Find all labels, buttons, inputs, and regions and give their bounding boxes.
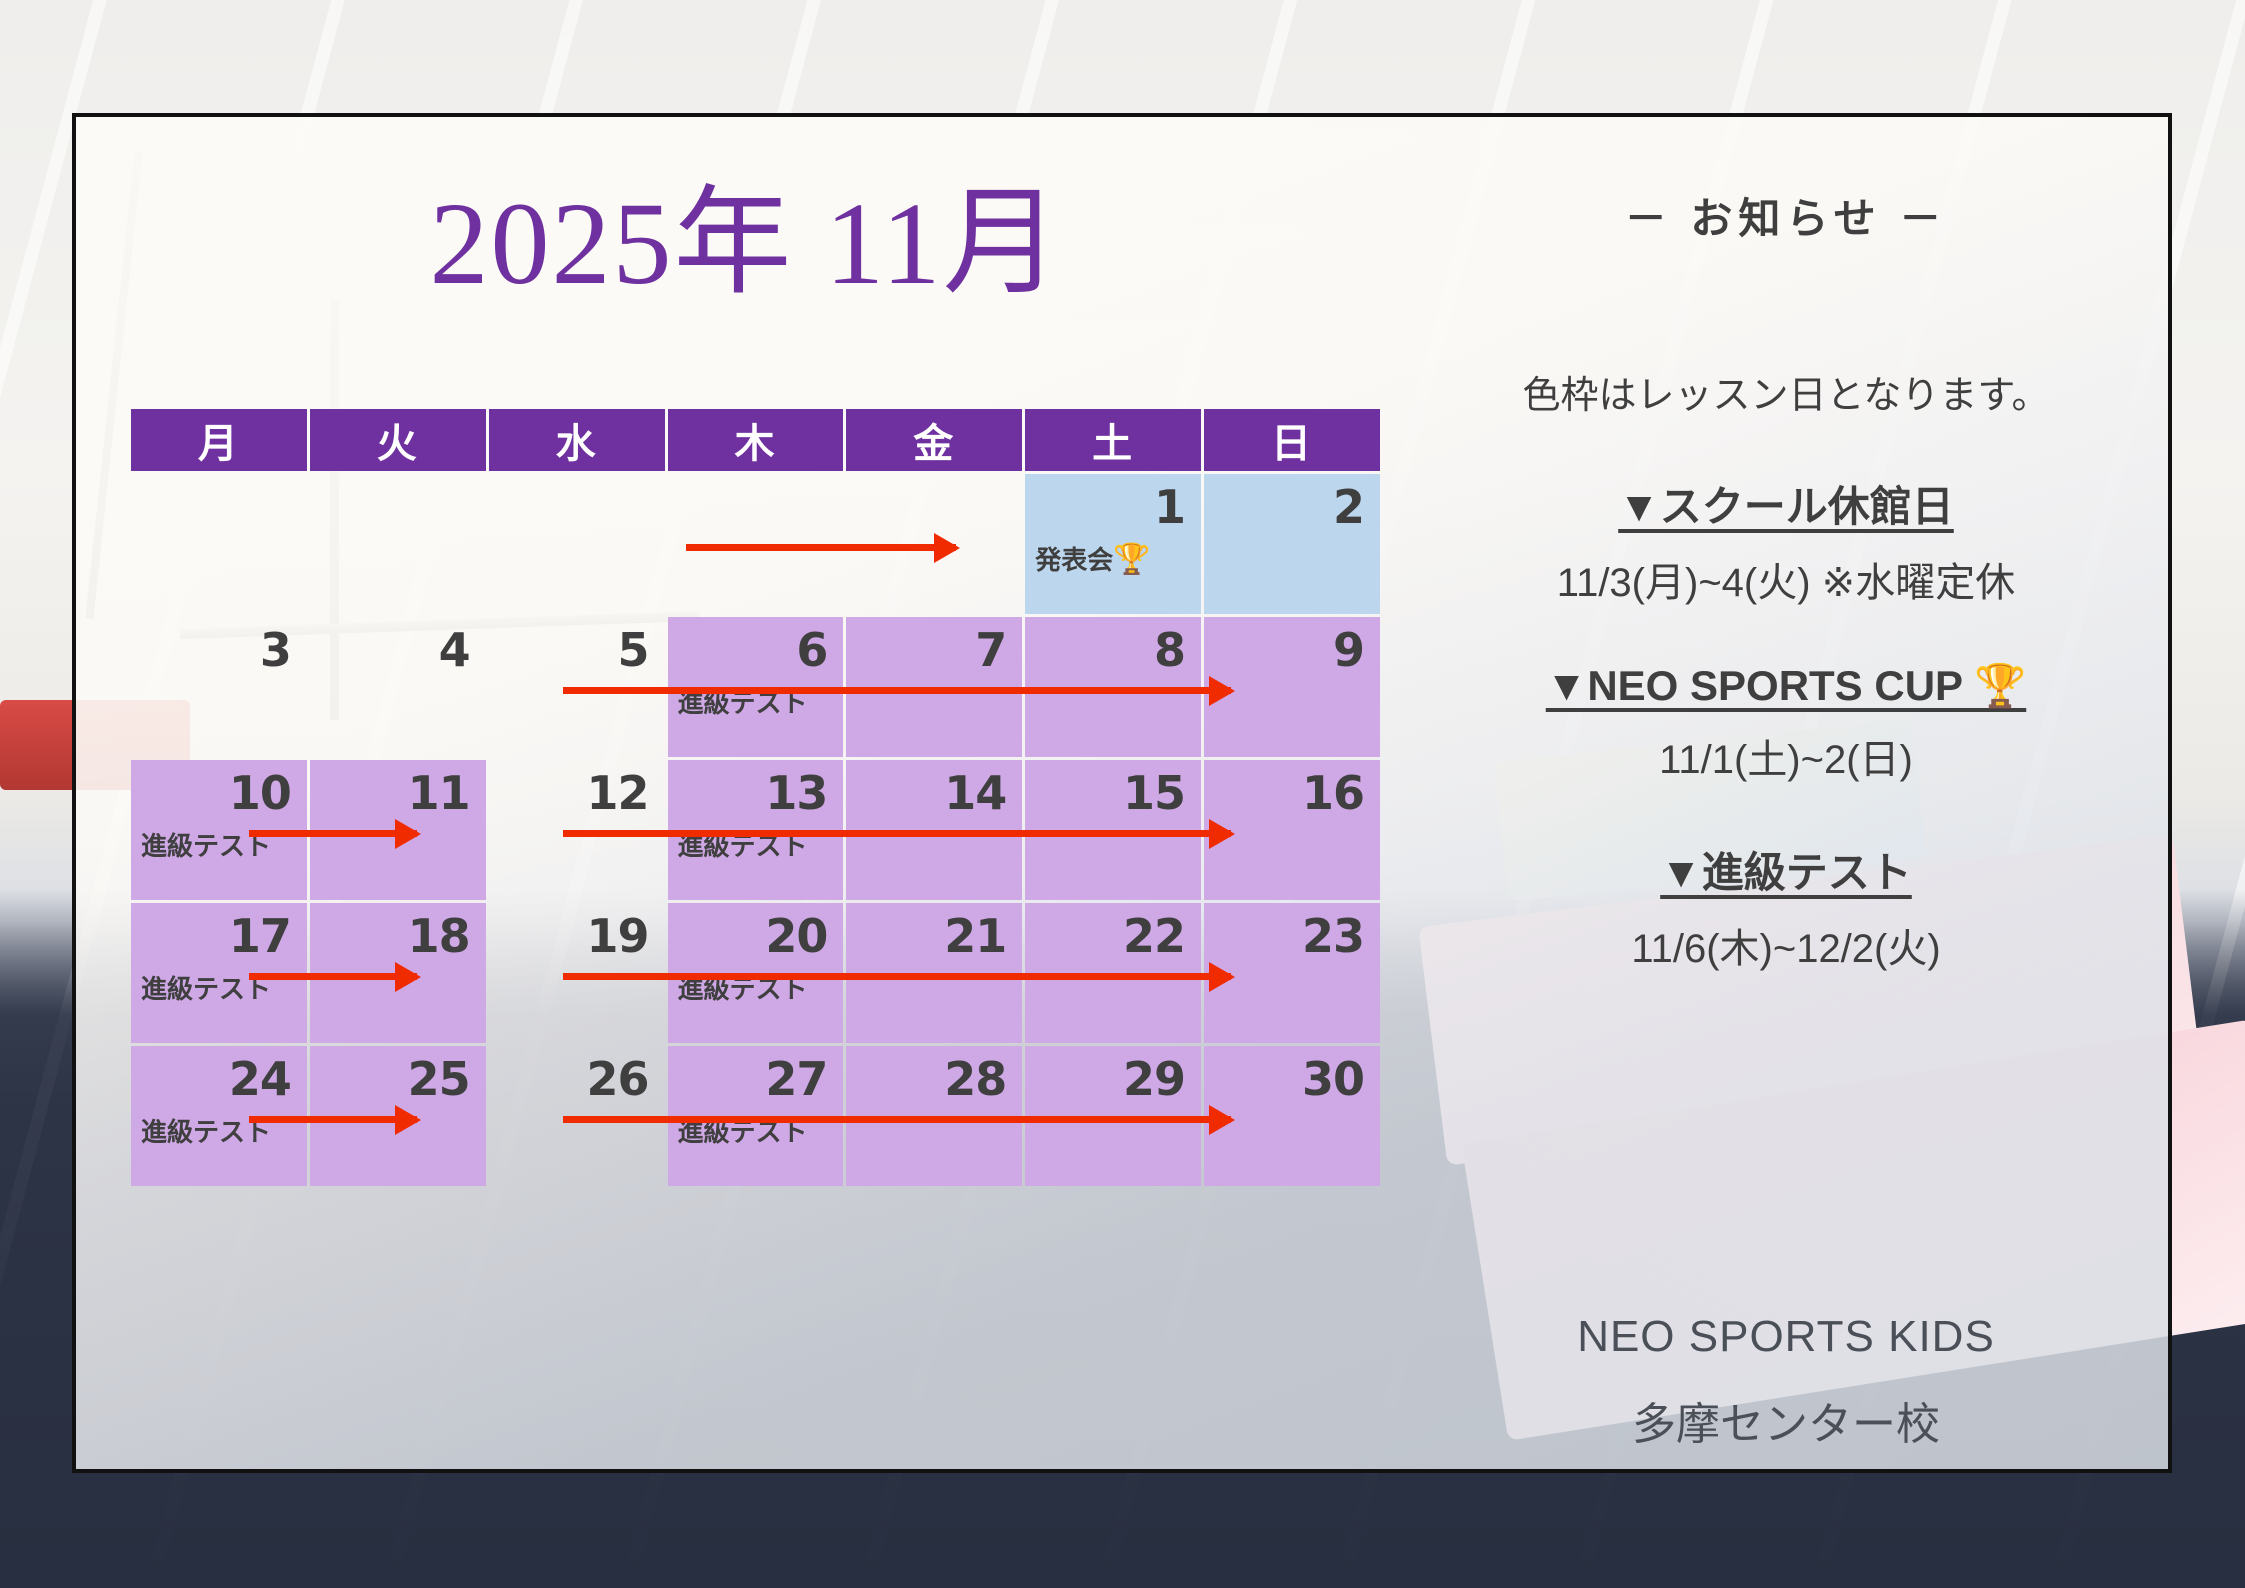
day-number: 28 [944,1052,1006,1106]
day-number: 26 [587,1052,649,1106]
day-number: 7 [975,623,1006,677]
day-number: 27 [765,1052,827,1106]
day-number: 3 [260,623,291,677]
school-footer: NEO SPORTS KIDS 多摩センター校 [1436,1312,2136,1452]
notice-title-neo-sports-cup: ▼NEO SPORTS CUP 🏆 [1546,662,2027,711]
notices-lead-text: 色枠はレッスン日となります。 [1436,364,2136,419]
trophy-icon: 🏆 [1113,542,1150,577]
monthly-calendar: 月 火 水 木 金 土 日 1発表会🏆23456進級テスト78910進級テスト1… [128,406,1383,1189]
notice-title-school-closed: ▼スクール休館日 [1618,473,1954,534]
day-number: 18 [408,909,470,963]
weekday-header-mon: 月 [131,409,307,471]
arrow-nov24-to-nov25 [249,1116,417,1123]
school-branch-name: 多摩センター校 [1436,1388,2136,1452]
calendar-header-row: 月 火 水 木 金 土 日 [131,409,1380,471]
arrow-nov27-to-nov30 [563,1116,1231,1123]
notice-title-promotion-test: ▼進級テスト [1660,839,1912,900]
day-number: 21 [944,909,1006,963]
day-event-label: 発表会🏆 [1035,540,1150,577]
notice-block-promotion-test: ▼進級テスト 11/6(木)~12/2(火) [1436,839,2136,974]
day-number: 14 [944,766,1006,820]
day-number: 10 [229,766,291,820]
arrow-nov17-to-nov18 [249,973,417,980]
day-number: 19 [587,909,649,963]
arrow-nov13-to-nov16 [563,830,1231,837]
day-number: 30 [1302,1052,1364,1106]
day-number: 6 [796,623,827,677]
arrow-nov20-to-nov23 [563,973,1231,980]
day-number: 9 [1333,623,1364,677]
school-brand-name: NEO SPORTS KIDS [1436,1312,2136,1362]
notice-block-neo-sports-cup: ▼NEO SPORTS CUP 🏆 11/1(土)~2(日) [1436,662,2136,785]
slide-frame: 2025年 11月 月 火 水 木 金 土 日 1発表会🏆23456進級テスト7… [72,113,2172,1473]
arrow-nov6-to-nov9 [563,687,1231,694]
day-number: 12 [587,766,649,820]
arrow-nov10-to-nov11 [249,830,417,837]
weekday-header-tue: 火 [310,409,486,471]
arrow-nov1-to-nov2 [686,544,956,551]
day-number: 17 [229,909,291,963]
page-title: 2025年 11月 [76,185,1416,303]
slide-stage: 2025年 11月 月 火 水 木 金 土 日 1発表会🏆23456進級テスト7… [0,0,2245,1588]
day-number: 8 [1154,623,1185,677]
calendar-day-cell-empty [489,474,665,614]
calendar-day-cell-empty [310,474,486,614]
day-number: 23 [1302,909,1364,963]
day-number: 1 [1154,480,1185,534]
day-number: 5 [618,623,649,677]
day-number: 13 [765,766,827,820]
calendar-day-cell-1: 1発表会🏆 [1025,474,1201,614]
calendar-day-cell-4: 4 [310,617,486,757]
weekday-header-thu: 木 [668,409,844,471]
weekday-header-fri: 金 [846,409,1022,471]
calendar-day-cell-3: 3 [131,617,307,757]
notice-body-school-closed: 11/3(月)~4(火) ※水曜定休 [1436,550,2136,608]
calendar-day-cell-empty [131,474,307,614]
calendar-day-cell-2: 2 [1204,474,1380,614]
notices-heading: － お知らせ － [1436,185,2136,246]
day-number: 29 [1123,1052,1185,1106]
weekday-header-wed: 水 [489,409,665,471]
day-number: 11 [408,766,470,820]
notice-block-school-closed: ▼スクール休館日 11/3(月)~4(火) ※水曜定休 [1436,473,2136,608]
day-number: 25 [408,1052,470,1106]
day-number: 16 [1302,766,1364,820]
notice-body-neo-sports-cup: 11/1(土)~2(日) [1436,727,2136,785]
day-number: 24 [229,1052,291,1106]
day-number: 15 [1123,766,1185,820]
weekday-header-sat: 土 [1025,409,1201,471]
notices-panel: － お知らせ － 色枠はレッスン日となります。 ▼スクール休館日 11/3(月)… [1436,157,2136,974]
weekday-header-sun: 日 [1204,409,1380,471]
day-number: 22 [1123,909,1185,963]
day-number: 20 [765,909,827,963]
notice-body-promotion-test: 11/6(木)~12/2(火) [1436,916,2136,974]
day-number: 4 [439,623,470,677]
day-number: 2 [1333,480,1364,534]
